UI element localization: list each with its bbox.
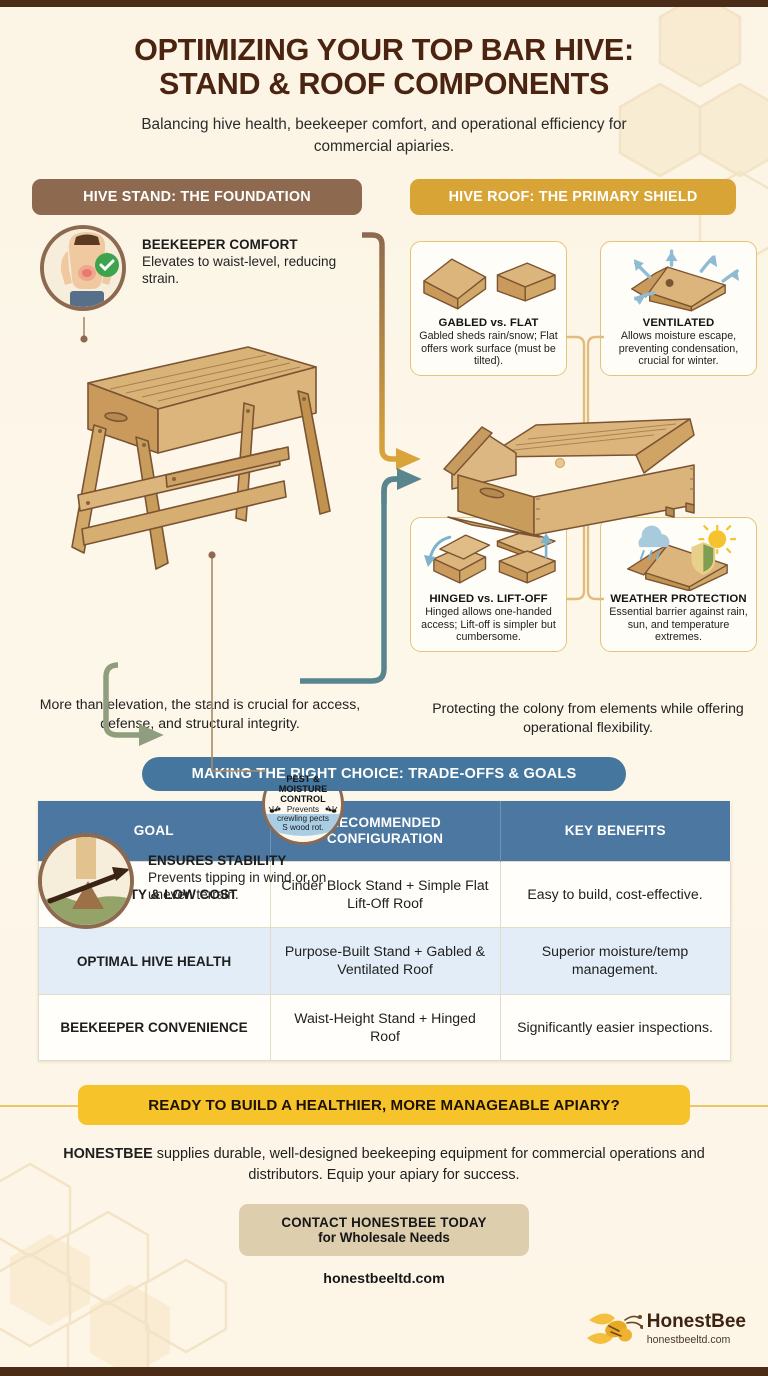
table-cell-benefit: Easy to build, cost-effective. xyxy=(500,861,730,928)
cta-headline-pill: READY TO BUILD A HEALTHIER, MORE MANAGEA… xyxy=(78,1085,690,1125)
honestbee-logo[interactable]: HonestBee honestbeeltd.com xyxy=(585,1304,746,1354)
cta-body-text: HONESTBEE supplies durable, well-designe… xyxy=(0,1144,768,1185)
connector-arrows xyxy=(0,173,768,813)
cta-headline-label: READY TO BUILD A HEALTHIER, MORE MANAGEA… xyxy=(148,1097,620,1114)
cta-brand-name: HONESTBEE xyxy=(63,1146,153,1162)
header: OPTIMIZING YOUR TOP BAR HIVE: STAND & RO… xyxy=(0,0,768,158)
table-row: SIMPLICITY & LOW COST Cinder Block Stand… xyxy=(38,861,730,928)
cta-body-rest: supplies durable, well-designed beekeepi… xyxy=(153,1146,705,1182)
contact-button-wrap: CONTACT HONESTBEE TODAY for Wholesale Ne… xyxy=(0,1204,768,1258)
stand-bullet-stability: ENSURES STABILITY Prevents tipping in wi… xyxy=(148,853,358,904)
stand-bullet-stability-title: ENSURES STABILITY xyxy=(148,853,358,868)
infographic-page: OPTIMIZING YOUR TOP BAR HIVE: STAND & RO… xyxy=(0,0,768,1376)
page-title: OPTIMIZING YOUR TOP BAR HIVE: STAND & RO… xyxy=(0,33,768,101)
contact-button-line-2: for Wholesale Needs xyxy=(318,1230,450,1245)
two-column-body: BEEKEEPER COMFORT Elevates to waist-leve… xyxy=(0,217,768,757)
pest-badge-title: PEST & MOISTURE CONTROL xyxy=(279,775,328,805)
table-row: BEEKEEPER CONVENIENCE Waist-Height Stand… xyxy=(38,994,730,1061)
website-url-link[interactable]: honestbeeltd.com xyxy=(0,1271,768,1287)
contact-button-line-1: CONTACT HONESTBEE TODAY xyxy=(281,1215,486,1230)
cta-banner-wrap: READY TO BUILD A HEALTHIER, MORE MANAGEA… xyxy=(0,1085,768,1127)
top-border-bar xyxy=(0,0,768,7)
page-title-line-1: OPTIMIZING YOUR TOP BAR HIVE: xyxy=(134,33,634,67)
table-cell-goal: OPTIMAL HIVE HEALTH xyxy=(38,928,270,995)
stand-bullet-stability-desc: Prevents tipping in wind or on uneven te… xyxy=(148,869,358,904)
table-cell-config: Purpose-Built Stand + Gabled & Ventilate… xyxy=(270,928,500,995)
balance-stability-icon xyxy=(38,833,134,929)
contact-honestbee-button[interactable]: CONTACT HONESTBEE TODAY for Wholesale Ne… xyxy=(239,1204,529,1256)
page-title-line-2: STAND & ROOF COMPONENTS xyxy=(34,67,734,101)
bee-logo-icon xyxy=(585,1304,643,1354)
pest-badge-sub: Prevents crewling pects S wood rot. xyxy=(277,805,329,832)
table-row: OPTIMAL HIVE HEALTH Purpose-Built Stand … xyxy=(38,928,730,995)
tradeoffs-table: GOAL RECOMMENDED CONFIGURATION KEY BENEF… xyxy=(38,801,731,1062)
logo-name: HonestBee xyxy=(647,1312,746,1331)
bottom-border-bar xyxy=(0,1367,768,1376)
table-cell-benefit: Significantly easier inspections. xyxy=(500,994,730,1061)
logo-url: honestbeeltd.com xyxy=(647,1334,731,1346)
table-cell-benefit: Superior moisture/temp management. xyxy=(500,928,730,995)
table-cell-goal: BEEKEEPER CONVENIENCE xyxy=(38,994,270,1061)
table-cell-config: Waist-Height Stand + Hinged Roof xyxy=(270,994,500,1061)
page-subtitle: Balancing hive health, beekeeper comfort… xyxy=(0,114,768,157)
